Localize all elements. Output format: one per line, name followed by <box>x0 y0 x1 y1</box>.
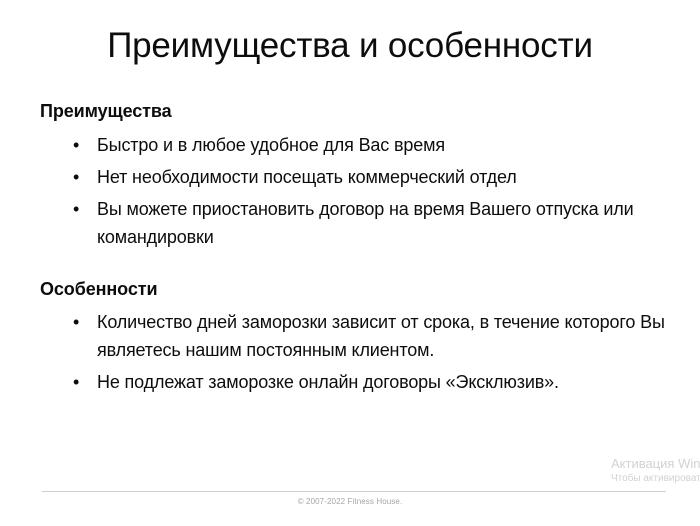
watermark-subtitle: Чтобы активировать Windows, перейдите в … <box>611 472 700 486</box>
bullet-dot-icon: • <box>73 309 79 336</box>
windows-activation-watermark: Активация Windows Чтобы активировать Win… <box>611 455 700 486</box>
section-heading: Особенности <box>40 278 668 301</box>
bullet-dot-icon: • <box>73 369 79 396</box>
footer-copyright: © 2007-2022 Fitness House. <box>0 496 700 508</box>
section-advantages: Преимущества • Быстро и в любое удобное … <box>40 100 668 251</box>
bullet-list: • Быстро и в любое удобное для Вас время… <box>40 132 668 251</box>
list-item-text: Нет необходимости посещать коммерческий … <box>97 167 517 187</box>
list-item: • Не подлежат заморозке онлайн договоры … <box>40 369 668 396</box>
list-item: • Быстро и в любое удобное для Вас время <box>40 132 668 159</box>
list-item-text: Вы можете приостановить договор на время… <box>97 199 634 246</box>
list-item: • Количество дней заморозки зависит от с… <box>40 309 668 364</box>
slide-body: Преимущества • Быстро и в любое удобное … <box>40 100 668 397</box>
list-item: • Нет необходимости посещать коммерчески… <box>40 164 668 191</box>
list-item: • Вы можете приостановить договор на вре… <box>40 196 668 251</box>
list-item-text: Не подлежат заморозке онлайн договоры «Э… <box>97 372 559 392</box>
bullet-dot-icon: • <box>73 196 79 223</box>
footer-divider <box>42 491 666 492</box>
bullet-dot-icon: • <box>73 132 79 159</box>
list-item-text: Количество дней заморозки зависит от сро… <box>97 312 665 359</box>
slide-canvas: Преимущества и особенности Преимущества … <box>0 0 700 526</box>
watermark-title: Активация Windows <box>611 455 700 472</box>
list-item-text: Быстро и в любое удобное для Вас время <box>97 135 445 155</box>
page-title: Преимущества и особенности <box>0 26 700 66</box>
bullet-list: • Количество дней заморозки зависит от с… <box>40 309 668 396</box>
bullet-dot-icon: • <box>73 164 79 191</box>
section-features: Особенности • Количество дней заморозки … <box>40 278 668 397</box>
section-heading: Преимущества <box>40 100 668 123</box>
